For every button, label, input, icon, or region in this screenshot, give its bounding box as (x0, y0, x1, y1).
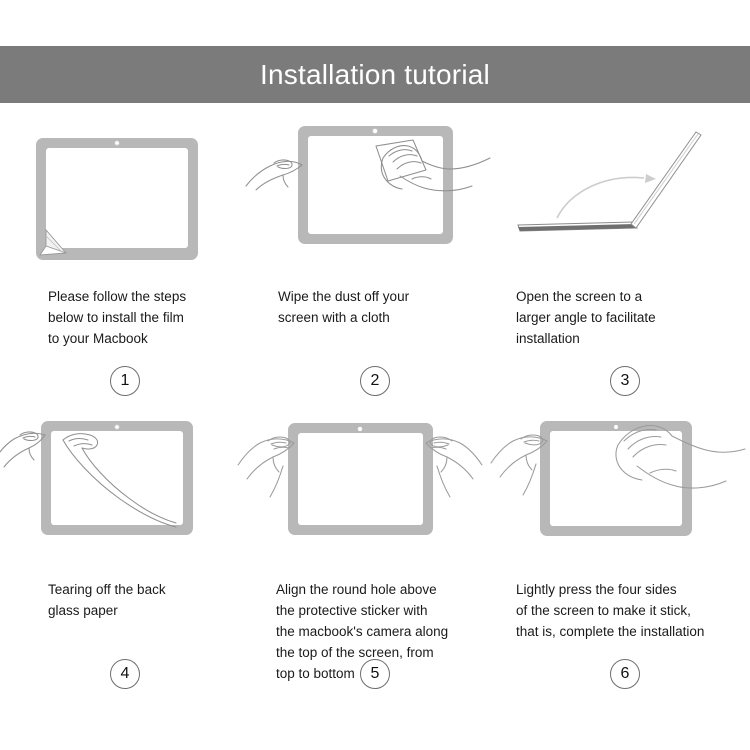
step-2-illustration (250, 118, 500, 258)
step-6-caption: Lightly press the four sides of the scre… (516, 579, 748, 642)
step-6-illustration (500, 411, 750, 551)
step-5-illustration (250, 411, 500, 551)
step-card-5: Align the round hole above the protectiv… (250, 411, 500, 704)
step-2-caption: Wipe the dust off your screen with a clo… (278, 286, 488, 328)
step-4-illustration (0, 411, 250, 551)
step-card-1: Please follow the steps below to install… (0, 118, 250, 411)
step-card-3: Open the screen to a larger angle to fac… (500, 118, 750, 411)
step-number-badge-6: 6 (610, 659, 640, 689)
step-3-caption: Open the screen to a larger angle to fac… (516, 286, 731, 349)
step-number-badge-4: 4 (110, 659, 140, 689)
step-1-illustration (0, 118, 250, 258)
step-number-badge-5: 5 (360, 659, 390, 689)
page-title: Installation tutorial (260, 61, 490, 89)
step-number-badge-1: 1 (110, 366, 140, 396)
step-card-2: Wipe the dust off your screen with a clo… (250, 118, 500, 411)
step-4-caption: Tearing off the back glass paper (48, 579, 253, 621)
step-card-4: Tearing off the back glass paper 4 (0, 411, 250, 704)
step-number-badge-2: 2 (360, 366, 390, 396)
steps-grid: Please follow the steps below to install… (0, 118, 750, 718)
step-3-illustration (500, 118, 750, 258)
step-number-badge-3: 3 (610, 366, 640, 396)
step-card-6: Lightly press the four sides of the scre… (500, 411, 750, 704)
header-banner: Installation tutorial (0, 46, 750, 103)
step-1-caption: Please follow the steps below to install… (48, 286, 253, 349)
